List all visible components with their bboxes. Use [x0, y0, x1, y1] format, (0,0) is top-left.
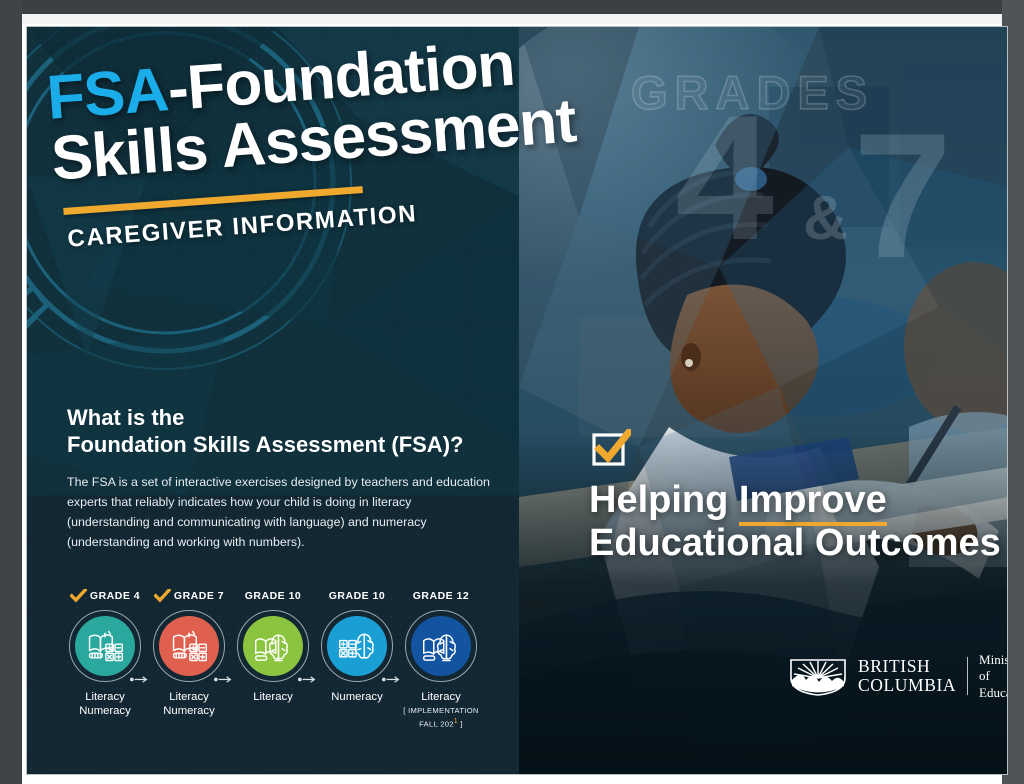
grade-step-caption-line-2: Numeracy — [163, 704, 214, 718]
note-line-2: FALL 2021 ] — [403, 717, 478, 730]
grade-step-header: GRADE 10 — [245, 585, 302, 607]
bc-wordmark: BRITISH COLUMBIA — [858, 657, 956, 695]
grade-step-caption: Literacy — [421, 690, 461, 704]
bc-word-british: BRITISH — [858, 657, 956, 676]
grade-step-label: GRADE 7 — [174, 590, 224, 602]
grade-step-5: GRADE 12 Literacy[ IMPLEMENTATIONFALL 20… — [399, 585, 483, 729]
grade-step-caption: LiteracyNumeracy — [163, 690, 214, 719]
headline-improve: Improve — [739, 479, 887, 526]
grade-step-2: GRADE 7 LiteracyNumeracy — [147, 585, 231, 719]
grade-step-4: GRADE 10 Numeracy — [315, 585, 399, 704]
headline-line-2: Educational Outcomes — [589, 522, 1008, 565]
book-calculator-icon — [159, 616, 219, 676]
grade-step-circle — [321, 610, 393, 682]
bc-sun-mountain-icon — [789, 656, 847, 696]
headline-helping: Helping — [589, 479, 739, 521]
grade-completed-check-icon — [70, 589, 87, 603]
grade-step-circle — [237, 610, 309, 682]
what-heading-line-2: Foundation Skills Assessment (FSA)? — [67, 432, 497, 459]
what-is-fsa-section: What is the Foundation Skills Assessment… — [67, 405, 497, 552]
grade-progression-row: GRADE 4 LiteracyNumeracyGRADE 7 — [63, 585, 513, 755]
ministry-line-2: Education — [979, 685, 1008, 701]
what-body-paragraph: The FSA is a set of interactive exercise… — [67, 472, 497, 552]
bc-word-columbia: COLUMBIA — [858, 676, 956, 695]
grade-step-caption: LiteracyNumeracy — [79, 690, 130, 719]
note-footnote-marker: 1 — [454, 718, 458, 725]
grade-step-label: GRADE 4 — [90, 590, 140, 602]
grade-step-3: GRADE 10 Literacy — [231, 585, 315, 704]
grade-step-circle — [69, 610, 141, 682]
viewer-frame-top-strip — [22, 14, 1002, 24]
book-brain-icon — [243, 616, 303, 676]
grade-step-caption: Literacy — [253, 690, 293, 704]
grade-step-header: GRADE 7 — [154, 585, 224, 607]
grade-step-circle — [153, 610, 225, 682]
what-heading-line-1: What is the — [67, 405, 497, 432]
grade-step-1: GRADE 4 LiteracyNumeracy — [63, 585, 147, 719]
screenshot-viewer: GRADES 4 & 7 Helping Improve Educational… — [0, 0, 1024, 784]
grade-step-header: GRADE 12 — [413, 585, 470, 607]
ministry-line-1: Ministry of — [979, 652, 1008, 685]
headline-line-1: Helping Improve — [589, 479, 1008, 522]
fsa-caregiver-poster: GRADES 4 & 7 Helping Improve Educational… — [26, 26, 1008, 775]
grade-step-implementation-note: [ IMPLEMENTATIONFALL 2021 ] — [403, 706, 478, 729]
viewer-frame-top — [0, 0, 1024, 14]
viewer-frame-left — [0, 0, 22, 784]
checkbox-check-icon — [591, 429, 631, 469]
grade-step-caption-line-2: Numeracy — [79, 704, 130, 718]
bc-government-logo: BRITISH COLUMBIA Ministry of Education — [789, 652, 1008, 701]
grade-completed-check-icon — [154, 589, 171, 603]
note-line-1: [ IMPLEMENTATION — [403, 706, 478, 716]
grade-step-header: GRADE 4 — [70, 585, 140, 607]
grade-step-label: GRADE 12 — [413, 590, 470, 602]
book-calculator-icon — [75, 616, 135, 676]
grade-step-label: GRADE 10 — [329, 590, 386, 602]
grade-step-label: GRADE 10 — [245, 590, 302, 602]
bc-logo-divider — [967, 657, 968, 695]
book-brain-icon — [411, 616, 471, 676]
bc-ministry-label: Ministry of Education — [979, 652, 1008, 701]
right-headline: Helping Improve Educational Outcomes — [589, 479, 1008, 564]
grade-step-header: GRADE 10 — [329, 585, 386, 607]
grade-step-caption: Numeracy — [331, 690, 382, 704]
calculator-brain-icon — [327, 616, 387, 676]
grade-step-circle — [405, 610, 477, 682]
